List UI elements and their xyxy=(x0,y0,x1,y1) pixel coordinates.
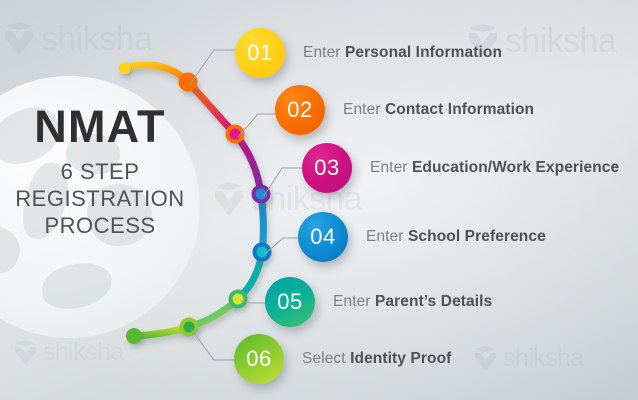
step-number: 03 xyxy=(314,157,339,179)
step-row-05[interactable]: 05 Enter Parent’s Details xyxy=(265,277,492,327)
step-row-06[interactable]: 06 Select Identity Proof xyxy=(234,334,451,384)
step-prefix: Enter xyxy=(303,44,341,61)
step-emphasis: Personal Information xyxy=(345,44,502,61)
step-label-02: Enter Contact Information xyxy=(343,101,534,119)
step-row-04[interactable]: 04 Enter School Preference xyxy=(298,212,546,262)
step-badge-03[interactable]: 03 xyxy=(302,143,352,193)
step-emphasis: Identity Proof xyxy=(350,350,451,367)
step-label-05: Enter Parent’s Details xyxy=(333,293,492,311)
step-row-01[interactable]: 01 Enter Personal Information xyxy=(235,28,502,78)
step-number: 06 xyxy=(246,348,271,370)
step-emphasis: Parent’s Details xyxy=(375,293,492,310)
step-badge-05[interactable]: 05 xyxy=(265,277,315,327)
step-row-03[interactable]: 03 Enter Education/Work Experience xyxy=(302,143,619,193)
step-emphasis: School Preference xyxy=(408,228,546,245)
step-prefix: Select xyxy=(302,350,346,367)
infographic-canvas: shiksha shiksha shiksha shiksha shiksha … xyxy=(0,0,638,400)
step-label-01: Enter Personal Information xyxy=(303,44,502,62)
step-badge-02[interactable]: 02 xyxy=(275,85,325,135)
step-number: 04 xyxy=(310,226,335,248)
step-row-02[interactable]: 02 Enter Contact Information xyxy=(275,85,534,135)
step-number: 02 xyxy=(287,99,312,121)
step-prefix: Enter xyxy=(370,159,408,176)
step-badge-04[interactable]: 04 xyxy=(298,212,348,262)
step-label-03: Enter Education/Work Experience xyxy=(370,159,619,177)
step-prefix: Enter xyxy=(333,293,371,310)
step-label-06: Select Identity Proof xyxy=(302,350,451,368)
step-number: 01 xyxy=(247,42,272,64)
step-prefix: Enter xyxy=(366,228,404,245)
step-number: 05 xyxy=(277,291,302,313)
step-emphasis: Contact Information xyxy=(385,101,534,118)
step-badge-01[interactable]: 01 xyxy=(235,28,285,78)
step-badge-06[interactable]: 06 xyxy=(234,334,284,384)
step-label-04: Enter School Preference xyxy=(366,228,546,246)
step-emphasis: Education/Work Experience xyxy=(412,159,619,176)
step-prefix: Enter xyxy=(343,101,381,118)
